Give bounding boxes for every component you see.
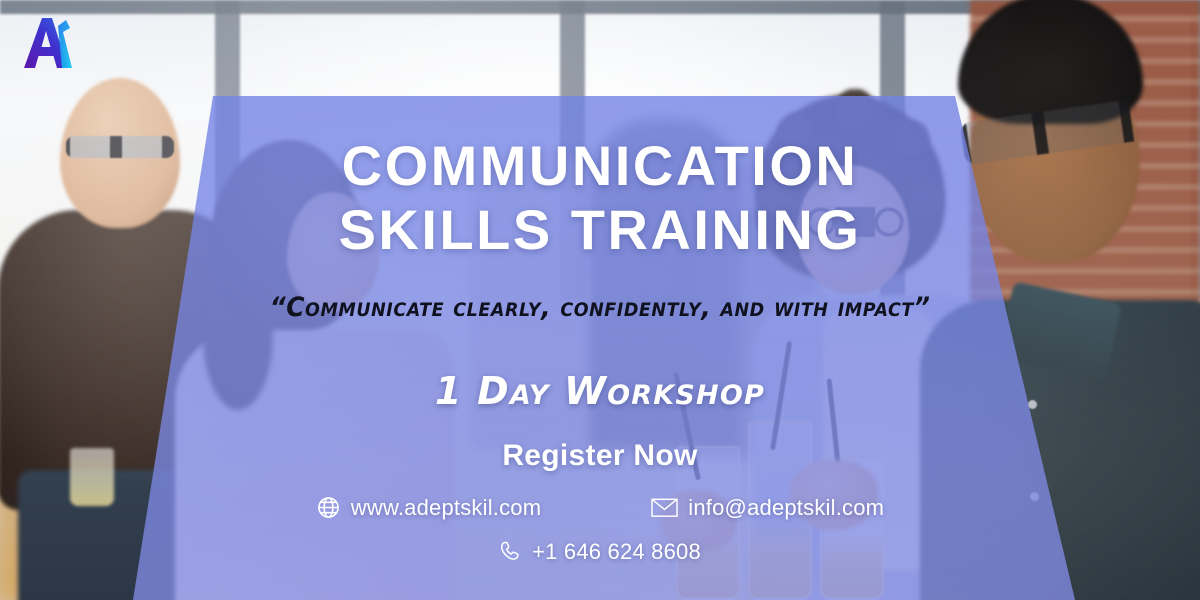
envelope-icon [651,497,678,518]
phone-text: +1 646 624 8608 [532,539,701,565]
shirt-button-2 [1030,492,1039,501]
tagline: “Communicate clearly, confidently, and w… [270,292,931,323]
event-banner: COMMUNICATION SKILLS TRAINING “Communica… [0,0,1200,600]
contact-row: www.adeptskil.com info@adeptskil.com [280,495,920,521]
title-line-1: COMMUNICATION [342,134,859,197]
website-text: www.adeptskil.com [351,495,541,521]
phone-icon [499,540,522,563]
contact-website[interactable]: www.adeptskil.com [316,495,541,521]
register-now-cta[interactable]: Register Now [502,439,697,473]
drink-glass-left [70,448,114,506]
contact-email[interactable]: info@adeptskil.com [651,495,884,521]
title-line-2: SKILLS TRAINING [170,198,1030,262]
page-title: COMMUNICATION SKILLS TRAINING [170,134,1030,262]
person-bald-man-glasses [66,136,174,158]
contact-phone[interactable]: +1 646 624 8608 [499,539,701,565]
globe-icon [316,495,341,520]
adeptskil-a-logo[interactable] [16,12,84,74]
contact-phone-row: +1 646 624 8608 [499,539,701,565]
workshop-duration: 1 Day Workshop [435,369,765,413]
person-man-teal-shirt [910,0,1200,600]
shirt-button-1 [1028,400,1037,409]
email-text: info@adeptskil.com [688,495,884,521]
